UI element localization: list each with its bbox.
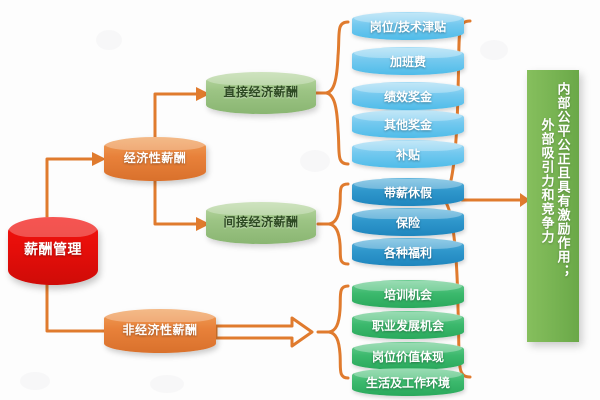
leaf-item[interactable]: 培训机会: [352, 280, 464, 308]
watermark-blob: [150, 375, 184, 393]
leaf-item-label: 加班费: [390, 53, 426, 70]
watermark-blob: [300, 150, 330, 172]
leaf-item[interactable]: 其他奖金: [352, 110, 464, 138]
node-economic[interactable]: 经济性薪酬: [104, 137, 206, 181]
leaf-item-label: 职业发展机会: [372, 317, 444, 334]
leaf-item[interactable]: 保险: [352, 208, 464, 236]
leaf-item-label: 其他奖金: [384, 116, 432, 133]
watermark-blob: [20, 372, 50, 390]
leaf-item[interactable]: 岗位/技术津贴: [352, 12, 464, 40]
leaf-item-label: 培训机会: [384, 286, 432, 303]
node-root-label: 薪酬管理: [24, 243, 82, 258]
leaf-item-label: 岗位价值体现: [372, 348, 444, 365]
leaf-item-label: 岗位/技术津贴: [370, 18, 446, 35]
outcome-banner: 内部公平公正且具有激励作用； 外部吸引力和竞争力: [527, 70, 579, 342]
leaf-item-label: 保险: [396, 214, 420, 231]
leaf-item-label: 绩效奖金: [384, 88, 432, 105]
leaf-item[interactable]: 绩效奖金: [352, 82, 464, 110]
node-non-economic[interactable]: 非经济性薪酬: [104, 309, 216, 353]
outcome-banner-line-1: 内部公平公正且具有激励作用；: [554, 82, 569, 278]
outcome-banner-line-2: 外部吸引力和竞争力: [538, 118, 553, 244]
leaf-item[interactable]: 生活及工作环境: [352, 368, 464, 396]
leaf-item[interactable]: 岗位价值体现: [352, 342, 464, 370]
leaf-item-label: 生活及工作环境: [366, 374, 450, 391]
node-indirect-economic-label: 间接经济薪酬: [223, 216, 298, 229]
node-root[interactable]: 薪酬管理: [8, 217, 98, 285]
diagram-canvas: 薪酬管理 经济性薪酬 非经济性薪酬 直接经济薪酬 间接经济薪酬 岗位/技术津贴 …: [0, 0, 600, 400]
watermark-blob: [480, 40, 508, 60]
leaf-item[interactable]: 职业发展机会: [352, 311, 464, 339]
node-direct-economic[interactable]: 直接经济薪酬: [206, 72, 316, 114]
leaf-item-label: 各种福利: [384, 244, 432, 261]
connector-lines: [0, 0, 600, 400]
watermark-blob: [96, 30, 122, 50]
leaf-item[interactable]: 各种福利: [352, 238, 464, 266]
node-economic-label: 经济性薪酬: [124, 152, 187, 165]
node-non-economic-label: 非经济性薪酬: [122, 324, 197, 337]
node-indirect-economic[interactable]: 间接经济薪酬: [206, 202, 316, 244]
leaf-item[interactable]: 加班费: [352, 47, 464, 75]
leaf-item-label: 带薪休假: [384, 184, 432, 201]
leaf-item[interactable]: 补贴: [352, 140, 464, 168]
leaf-item[interactable]: 带薪休假: [352, 178, 464, 206]
leaf-item-label: 补贴: [396, 146, 420, 163]
node-direct-economic-label: 直接经济薪酬: [223, 86, 298, 99]
